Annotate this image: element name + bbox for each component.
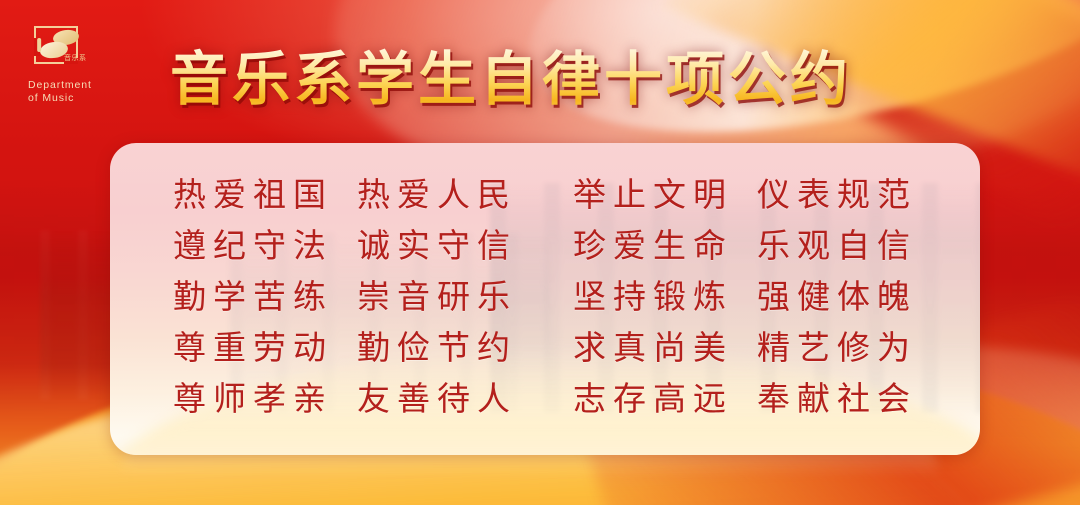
pledge-row: 热爱祖国 热爱人民 举止文明 仪表规范 [110, 169, 980, 220]
pledge-row-left: 热爱祖国 热爱人民 [145, 175, 545, 215]
pledge-row-right: 举止文明 仪表规范 [545, 175, 945, 215]
pledge-row: 尊重劳动 勤俭节约 求真尚美 精艺修为 [110, 322, 980, 373]
music-note-logo-icon: 音乐系 [34, 26, 88, 74]
pledge-phrase: 坚持锻炼 [573, 277, 733, 317]
pledge-row-right: 坚持锻炼 强健体魄 [545, 277, 945, 317]
pledge-rows: 热爱祖国 热爱人民 举止文明 仪表规范 遵纪守法 诚实守信 珍爱生命 乐观自信 [110, 143, 980, 424]
pledge-phrase: 勤学苦练 [173, 277, 333, 317]
pledge-phrase: 诚实守信 [357, 226, 517, 266]
pledge-phrase: 尊重劳动 [173, 328, 333, 368]
pledge-phrase: 崇音研乐 [357, 277, 517, 317]
pledge-phrase: 乐观自信 [757, 226, 917, 266]
pledge-phrase: 热爱人民 [357, 175, 517, 215]
poster-canvas: 音乐系 Department of Music 音乐系学生自律十项公约 热爱祖国… [0, 0, 1080, 505]
pledge-row-right: 志存高远 奉献社会 [545, 379, 945, 419]
pledge-phrase: 志存高远 [573, 379, 733, 419]
poster-title: 音乐系学生自律十项公约 [170, 46, 852, 112]
pledge-phrase: 强健体魄 [757, 277, 917, 317]
pledge-phrase: 求真尚美 [573, 328, 733, 368]
pledge-phrase: 精艺修为 [757, 328, 917, 368]
pledge-row-right: 珍爱生命 乐观自信 [545, 226, 945, 266]
pledge-row-left: 遵纪守法 诚实守信 [145, 226, 545, 266]
pledge-phrase: 奉献社会 [757, 379, 917, 419]
pledge-panel: 热爱祖国 热爱人民 举止文明 仪表规范 遵纪守法 诚实守信 珍爱生命 乐观自信 [110, 143, 980, 455]
pledge-row: 勤学苦练 崇音研乐 坚持锻炼 强健体魄 [110, 271, 980, 322]
department-logo: 音乐系 Department of Music [28, 26, 120, 108]
logo-english-label: Department of Music [28, 79, 120, 105]
pledge-phrase: 友善待人 [357, 379, 517, 419]
logo-english-line1: Department [28, 79, 120, 92]
pledge-row-left: 尊师孝亲 友善待人 [145, 379, 545, 419]
pledge-row: 尊师孝亲 友善待人 志存高远 奉献社会 [110, 373, 980, 424]
pledge-row-left: 尊重劳动 勤俭节约 [145, 328, 545, 368]
pledge-phrase: 尊师孝亲 [173, 379, 333, 419]
pledge-row-left: 勤学苦练 崇音研乐 [145, 277, 545, 317]
pledge-phrase: 热爱祖国 [173, 175, 333, 215]
pledge-phrase: 仪表规范 [757, 175, 917, 215]
pledge-row: 遵纪守法 诚实守信 珍爱生命 乐观自信 [110, 220, 980, 271]
pledge-phrase: 举止文明 [573, 175, 733, 215]
pledge-phrase: 珍爱生命 [573, 226, 733, 266]
pledge-phrase: 勤俭节约 [357, 328, 517, 368]
pledge-phrase: 遵纪守法 [173, 226, 333, 266]
pledge-row-right: 求真尚美 精艺修为 [545, 328, 945, 368]
logo-chinese-label: 音乐系 [64, 53, 87, 63]
logo-english-line2: of Music [28, 92, 120, 105]
